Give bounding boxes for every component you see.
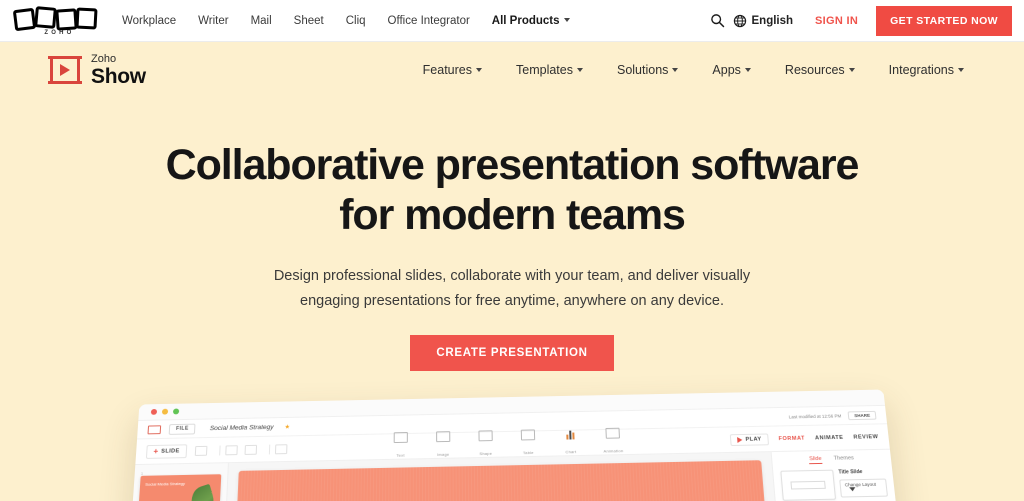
page-title: Collaborative presentation software for … [142, 140, 882, 241]
insert-chart-label: Chart [565, 449, 576, 454]
insert-table-tool[interactable]: Table [515, 429, 542, 459]
zoho-show-logo[interactable]: Zoho Show [48, 54, 146, 87]
topnav-item-mail[interactable]: Mail [251, 15, 272, 27]
zoho-logo[interactable]: ZOHO [12, 6, 104, 36]
topnav-item-cliq[interactable]: Cliq [346, 15, 366, 27]
duplicate-slide-icon[interactable] [195, 445, 208, 455]
chevron-down-icon [958, 68, 964, 72]
insert-shape-tool[interactable]: Shape [472, 430, 499, 460]
play-label: PLAY [745, 436, 761, 442]
prodnav-label: Resources [785, 63, 845, 77]
table-icon [521, 429, 535, 440]
add-slide-label: SLIDE [161, 448, 180, 454]
all-products-label: All Products [492, 15, 560, 27]
chevron-down-icon [849, 68, 855, 72]
hero-copy: Collaborative presentation software for … [0, 98, 1024, 371]
get-started-now-button[interactable]: GET STARTED NOW [876, 6, 1012, 36]
current-slide[interactable] [233, 460, 772, 501]
ribbon-tab-format[interactable]: FORMAT [778, 435, 805, 441]
topnav-item-workplace[interactable]: Workplace [122, 15, 176, 27]
ribbon-tab-review[interactable]: REVIEW [853, 434, 879, 440]
chart-icon [563, 428, 577, 439]
properties-tabs: Slide Themes [779, 455, 884, 465]
window-maximize-dot [173, 409, 179, 415]
topnav-item-writer[interactable]: Writer [198, 15, 228, 27]
create-presentation-button[interactable]: CREATE PRESENTATION [410, 335, 613, 371]
topnav-item-office-integrator[interactable]: Office Integrator [388, 15, 470, 27]
chevron-down-icon [745, 68, 751, 72]
layout-preview[interactable] [780, 470, 836, 501]
window-close-dot [151, 409, 157, 415]
insert-image-tool[interactable]: Image [430, 431, 456, 461]
toolbar-divider [269, 444, 270, 454]
file-menu-button[interactable]: FILE [169, 423, 196, 434]
product-header: Zoho Show Features Templates Solutions A… [0, 42, 1024, 98]
add-slide-button[interactable]: + SLIDE [146, 444, 187, 459]
slide-thumbnail-1[interactable]: Social Media Strategy [138, 474, 222, 501]
prodnav-item-solutions[interactable]: Solutions [617, 63, 678, 77]
prodnav-item-apps[interactable]: Apps [712, 63, 751, 77]
mockup-window: FILE Social Media Strategy ★ Last modifi… [125, 390, 907, 501]
search-icon[interactable] [703, 13, 733, 28]
chevron-down-icon [849, 487, 856, 491]
chevron-down-icon [564, 18, 570, 22]
menubar-right-group: Last modified at 12:56 PM SHARE [788, 410, 876, 420]
language-selector[interactable]: English [733, 14, 794, 28]
prodnav-label: Integrations [889, 63, 954, 77]
file-menu-label: FILE [176, 426, 189, 432]
prodnav-item-features[interactable]: Features [423, 63, 482, 77]
favorite-star-icon[interactable]: ★ [285, 423, 291, 430]
show-play-icon [48, 56, 82, 84]
prodnav-label: Solutions [617, 63, 668, 77]
language-label: English [752, 15, 794, 27]
prodnav-label: Apps [712, 63, 741, 77]
layout-name: Title Slide [838, 469, 885, 476]
document-title: Social Media Strategy [210, 424, 274, 432]
page-root: ZOHO Workplace Writer Mail Sheet Cliq Of… [0, 0, 1024, 501]
share-button[interactable]: SHARE [848, 410, 877, 419]
paint-format-icon[interactable] [275, 444, 287, 454]
insert-chart-tool[interactable]: Chart [557, 428, 584, 458]
layout-row: Title Slide Change Layout [780, 469, 888, 501]
prodnav-item-resources[interactable]: Resources [785, 63, 855, 77]
hero-subtext: Design professional slides, collaborate … [267, 264, 757, 314]
play-icon [737, 436, 742, 442]
sign-in-link[interactable]: SIGN IN [815, 15, 858, 27]
plus-icon: + [153, 447, 158, 455]
chevron-down-icon [476, 68, 482, 72]
undo-icon[interactable] [225, 445, 238, 455]
insert-text-label: Text [396, 452, 404, 457]
prodnav-item-templates[interactable]: Templates [516, 63, 583, 77]
toolbar-divider [219, 445, 220, 455]
top-utility-bar: ZOHO Workplace Writer Mail Sheet Cliq Of… [0, 0, 1024, 42]
insert-shape-label: Shape [479, 450, 492, 455]
insert-animation-tool[interactable]: Animation [599, 427, 627, 457]
ribbon-tabs-group: PLAY FORMAT ANIMATE REVIEW [730, 431, 879, 446]
properties-panel: Slide Themes Title Slide Change Layout B… [771, 450, 907, 501]
play-button[interactable]: PLAY [730, 433, 769, 446]
insert-table-label: Table [523, 450, 534, 455]
slide-thumbnail-panel: 1 Social Media Strategy [125, 463, 229, 501]
chevron-down-icon [577, 68, 583, 72]
topnav-item-sheet[interactable]: Sheet [294, 15, 324, 27]
prodnav-item-integrations[interactable]: Integrations [889, 63, 964, 77]
show-wordmark: Zoho Show [91, 54, 146, 87]
prodnav-label: Features [423, 63, 472, 77]
last-modified-label: Last modified at 12:56 PM [789, 413, 842, 419]
hero-section: Zoho Show Features Templates Solutions A… [0, 42, 1024, 501]
ribbon-tab-animate[interactable]: ANIMATE [815, 434, 844, 440]
app-mockup: FILE Social Media Strategy ★ Last modifi… [140, 397, 884, 501]
global-product-nav: Workplace Writer Mail Sheet Cliq Office … [122, 15, 570, 27]
shape-icon [478, 430, 492, 441]
redo-icon[interactable] [244, 444, 257, 454]
zoho-squares-icon [12, 6, 104, 32]
top-bar-right-group: English SIGN IN GET STARTED NOW [703, 0, 1024, 42]
chevron-down-icon [672, 68, 678, 72]
animation-icon [605, 427, 620, 438]
globe-icon [733, 14, 747, 28]
change-layout-button[interactable]: Change Layout [839, 479, 888, 498]
layout-meta: Title Slide Change Layout [838, 469, 888, 499]
product-nav: Features Templates Solutions Apps Resour… [423, 63, 964, 77]
tab-themes[interactable]: Themes [833, 455, 854, 463]
show-logo-line1: Zoho [91, 54, 146, 65]
topnav-item-all-products[interactable]: All Products [492, 15, 570, 27]
tab-slide[interactable]: Slide [809, 456, 822, 464]
text-icon [394, 432, 408, 443]
insert-image-label: Image [437, 451, 449, 456]
app-logo-icon [148, 425, 162, 434]
image-icon [436, 431, 450, 442]
insert-animation-label: Animation [603, 448, 623, 453]
window-minimize-dot [162, 409, 168, 415]
insert-text-tool[interactable]: Text [387, 431, 413, 461]
prodnav-label: Templates [516, 63, 573, 77]
show-logo-line2: Show [91, 66, 146, 87]
